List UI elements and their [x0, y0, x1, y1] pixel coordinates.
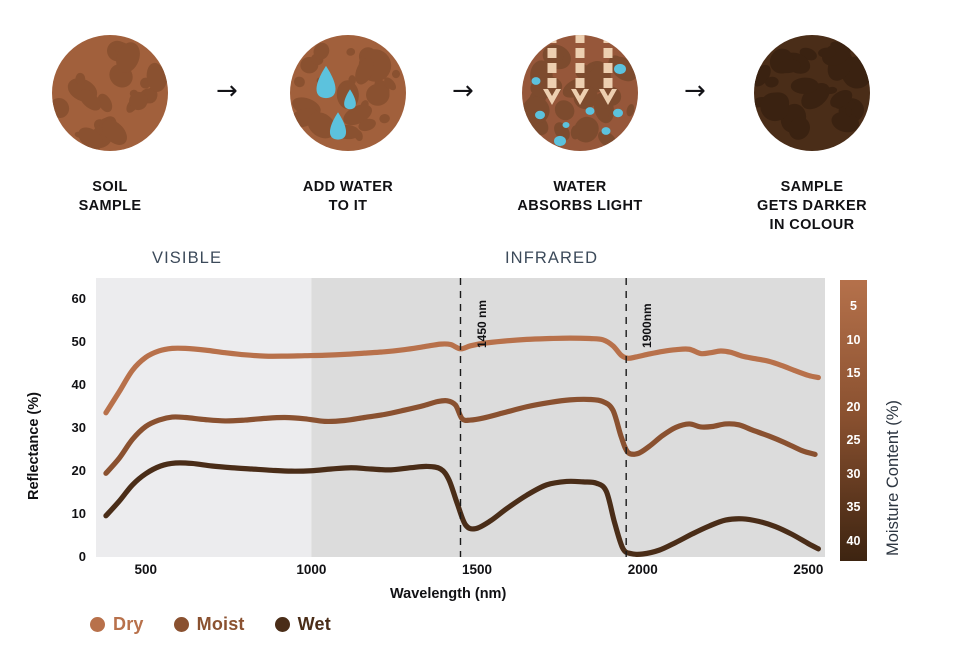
process-label-line: GETS DARKER: [722, 197, 902, 216]
light-beam-dash: [548, 33, 557, 43]
light-beam-dash: [548, 78, 557, 88]
x-axis-title: Wavelength (nm): [390, 586, 506, 602]
process-arrow-2: →: [684, 78, 706, 104]
colorbar-tick-label: 40: [840, 534, 867, 548]
absorbed-water-dot: [614, 64, 626, 74]
process-label-1: ADD WATERTO IT: [268, 178, 428, 216]
moisture-colorbar: 510152025303540: [840, 280, 867, 561]
colorbar-tick-label: 30: [840, 467, 867, 481]
x-tick-label: 1500: [442, 562, 512, 577]
absorbed-water-dot: [535, 111, 545, 120]
y-tick-label: 0: [52, 549, 86, 564]
y-tick-label: 10: [52, 506, 86, 521]
legend-item-dry[interactable]: Dry: [90, 614, 144, 635]
process-label-line: ABSORBS LIGHT: [490, 197, 670, 216]
process-label-3: SAMPLEGETS DARKERIN COLOUR: [722, 178, 902, 235]
absorbed-water-dot: [586, 107, 595, 115]
infographic-root: SOILSAMPLE ADD WATERTO IT WATERABSORBS L…: [0, 0, 956, 658]
series-line-moist: [106, 399, 815, 473]
legend-item-wet[interactable]: Wet: [275, 614, 331, 635]
band-infrared: [311, 278, 825, 557]
light-beam-dash: [576, 63, 585, 73]
light-beam-dash: [548, 48, 557, 58]
colorbar-tick-label: 10: [840, 333, 867, 347]
process-label-line: SAMPLE: [30, 197, 190, 216]
y-tick-label: 20: [52, 463, 86, 478]
process-label-line: IN COLOUR: [722, 216, 902, 235]
process-label-line: SAMPLE: [722, 178, 902, 197]
band-label-infrared: INFRARED: [505, 249, 598, 268]
colorbar-tick-label: 5: [840, 299, 867, 313]
process-label-0: SOILSAMPLE: [30, 178, 190, 216]
x-tick-label: 500: [111, 562, 181, 577]
x-tick-label: 2500: [773, 562, 843, 577]
light-beam-dash: [576, 33, 585, 43]
series-legend: DryMoistWet: [90, 614, 331, 635]
light-beam-dash: [576, 78, 585, 88]
absorbed-water-dot: [613, 109, 623, 118]
absorbed-water-dot: [563, 122, 570, 128]
legend-dot-icon: [275, 617, 290, 632]
colorbar-tick-label: 15: [840, 366, 867, 380]
process-arrow-0: →: [216, 78, 238, 104]
light-beam-dash: [576, 48, 585, 58]
legend-dot-icon: [90, 617, 105, 632]
band-label-visible: VISIBLE: [152, 249, 222, 268]
light-beam-dash: [604, 33, 613, 43]
light-beam-dash: [604, 63, 613, 73]
legend-dot-icon: [174, 617, 189, 632]
absorbed-water-dot: [532, 77, 541, 85]
colorbar-tick-label: 25: [840, 433, 867, 447]
x-tick-label: 2000: [608, 562, 678, 577]
y-tick-label: 30: [52, 420, 86, 435]
colorbar-ticks: 510152025303540: [840, 280, 867, 561]
light-beam-dash: [604, 78, 613, 88]
soil-circle-add-water: [286, 35, 406, 151]
process-label-line: ADD WATER: [268, 178, 428, 197]
y-tick-label: 40: [52, 377, 86, 392]
process-diagram: [0, 0, 956, 175]
process-arrow-1: →: [452, 78, 474, 104]
legend-label: Dry: [113, 614, 144, 635]
soil-circle-sample-gets-darker: [748, 35, 873, 151]
absorbed-water-dot: [554, 136, 566, 146]
annotation-label-0: 1450 nm: [475, 300, 489, 348]
colorbar-tick-label: 20: [840, 400, 867, 414]
process-label-line: TO IT: [268, 197, 428, 216]
x-tick-label: 1000: [276, 562, 346, 577]
process-label-line: SOIL: [30, 178, 190, 197]
colorbar-title: Moisture Content (%): [884, 400, 903, 556]
process-label-line: WATER: [490, 178, 670, 197]
process-label-2: WATERABSORBS LIGHT: [490, 178, 670, 216]
soil-circle-water-absorbs-light: [517, 33, 642, 151]
soil-circle-soil-sample: [46, 35, 169, 154]
colorbar-tick-label: 35: [840, 500, 867, 514]
series-line-wet: [106, 463, 818, 555]
light-beam-dash: [548, 63, 557, 73]
y-tick-label: 50: [52, 334, 86, 349]
y-tick-label: 60: [52, 291, 86, 306]
legend-label: Moist: [197, 614, 245, 635]
band-visible: [96, 278, 311, 557]
y-axis-title: Reflectance (%): [26, 392, 42, 500]
light-beam-dash: [604, 48, 613, 58]
series-line-dry: [106, 338, 818, 413]
legend-label: Wet: [298, 614, 331, 635]
legend-item-moist[interactable]: Moist: [174, 614, 245, 635]
annotation-label-1: 1900nm: [640, 303, 654, 348]
absorbed-water-dot: [602, 127, 611, 135]
